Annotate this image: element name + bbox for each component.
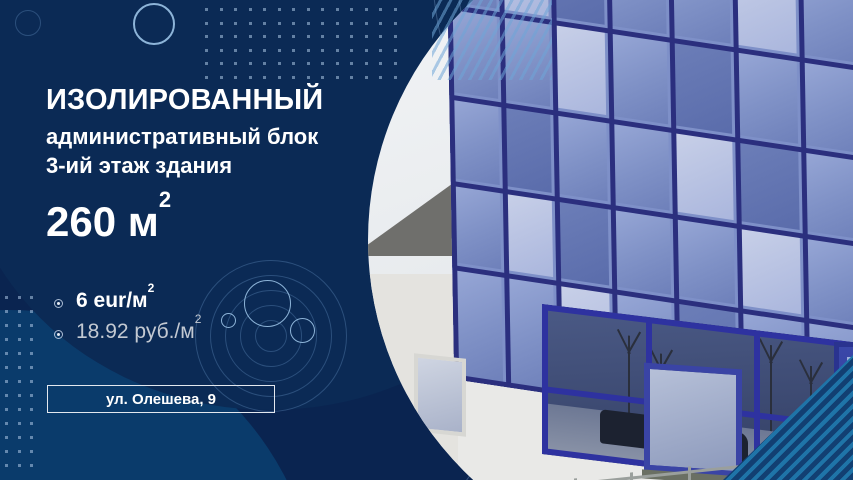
area-exponent: 2 — [159, 187, 171, 212]
subtitle-line-2: 3-ий этаж здания — [46, 151, 318, 180]
promo-banner: ИЗОЛИРОВАННЫЙ административный блок 3-ий… — [0, 0, 853, 480]
page-title: ИЗОЛИРОВАННЫЙ — [46, 86, 323, 115]
area-number: 260 м — [46, 198, 159, 245]
list-item: 18.92 руб./м2 — [52, 319, 201, 344]
area-value: 260 м2 — [46, 198, 171, 246]
subtitle-line-1: административный блок — [46, 122, 318, 151]
subtitle: административный блок 3-ий этаж здания — [46, 122, 318, 180]
address-box: ул. Олешева, 9 — [47, 385, 275, 413]
price-text: 6 eur/м — [76, 289, 148, 312]
photo-window-small — [414, 353, 466, 436]
decor-circle-top-left — [15, 10, 41, 36]
price-exponent: 2 — [195, 312, 202, 326]
bullet-icon — [54, 299, 63, 308]
price-list: 6 eur/м2 18.92 руб./м2 — [52, 288, 201, 350]
decor-stripes-top — [432, 0, 552, 80]
price-exponent: 2 — [148, 281, 155, 295]
photo-window — [644, 363, 742, 478]
list-item: 6 eur/м2 — [52, 288, 201, 313]
address-text: ул. Олешева, 9 — [106, 391, 216, 408]
bullet-icon — [54, 330, 63, 339]
price-text: 18.92 руб./м — [76, 320, 195, 343]
text-content: ИЗОЛИРОВАННЫЙ административный блок 3-ий… — [46, 0, 406, 480]
